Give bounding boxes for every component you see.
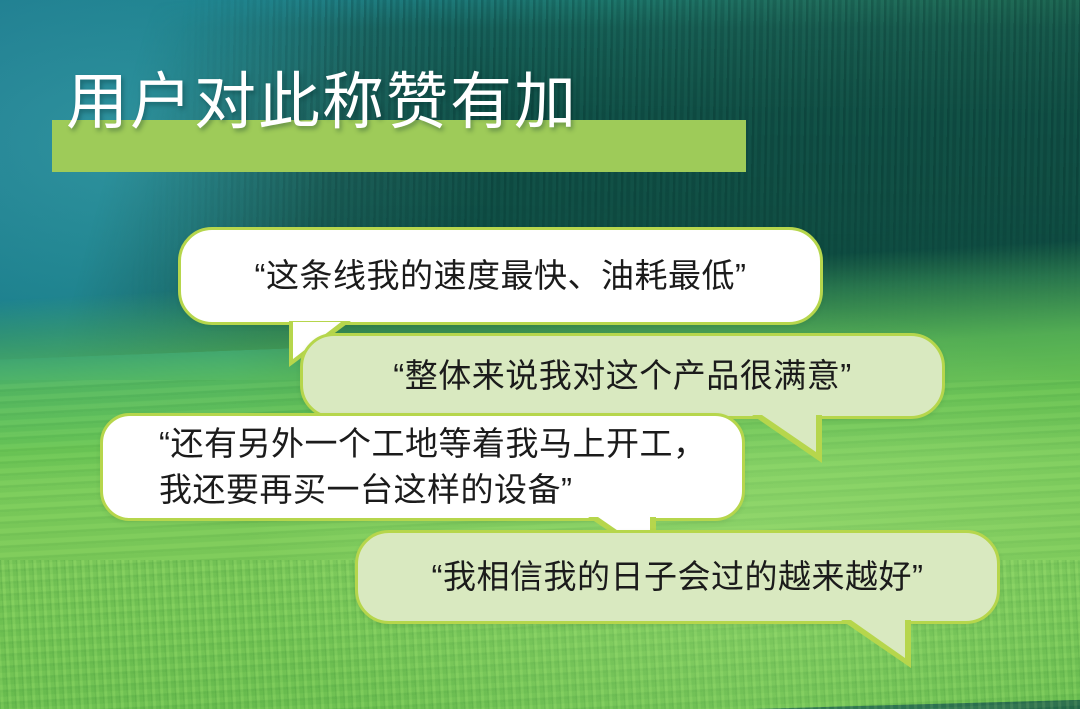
testimonial-bubble-3: “还有另外一个工地等着我马上开工， 我还要再买一台这样的设备”	[100, 413, 745, 521]
testimonial-text-3: “还有另外一个工地等着我马上开工， 我还要再买一台这样的设备”	[131, 421, 714, 512]
slide-canvas: 用户对此称赞有加 “这条线我的速度最快、油耗最低” “整体来说我对这个产品很满意…	[0, 0, 1080, 709]
testimonial-bubble-2: “整体来说我对这个产品很满意”	[300, 333, 945, 419]
testimonial-text-4: “我相信我的日子会过的越来越好”	[432, 554, 924, 600]
speech-tail-fill-4	[851, 620, 905, 658]
page-title-block: 用户对此称赞有加	[0, 72, 1080, 180]
testimonial-bubble-4: “我相信我的日子会过的越来越好”	[355, 530, 1000, 624]
page-title: 用户对此称赞有加	[66, 72, 578, 134]
testimonial-text-1: “这条线我的速度最快、油耗最低”	[255, 253, 747, 299]
testimonial-bubble-1: “这条线我的速度最快、油耗最低”	[178, 227, 823, 325]
testimonial-text-2: “整体来说我对这个产品很满意”	[393, 353, 851, 399]
speech-tail-fill-2	[762, 415, 816, 452]
